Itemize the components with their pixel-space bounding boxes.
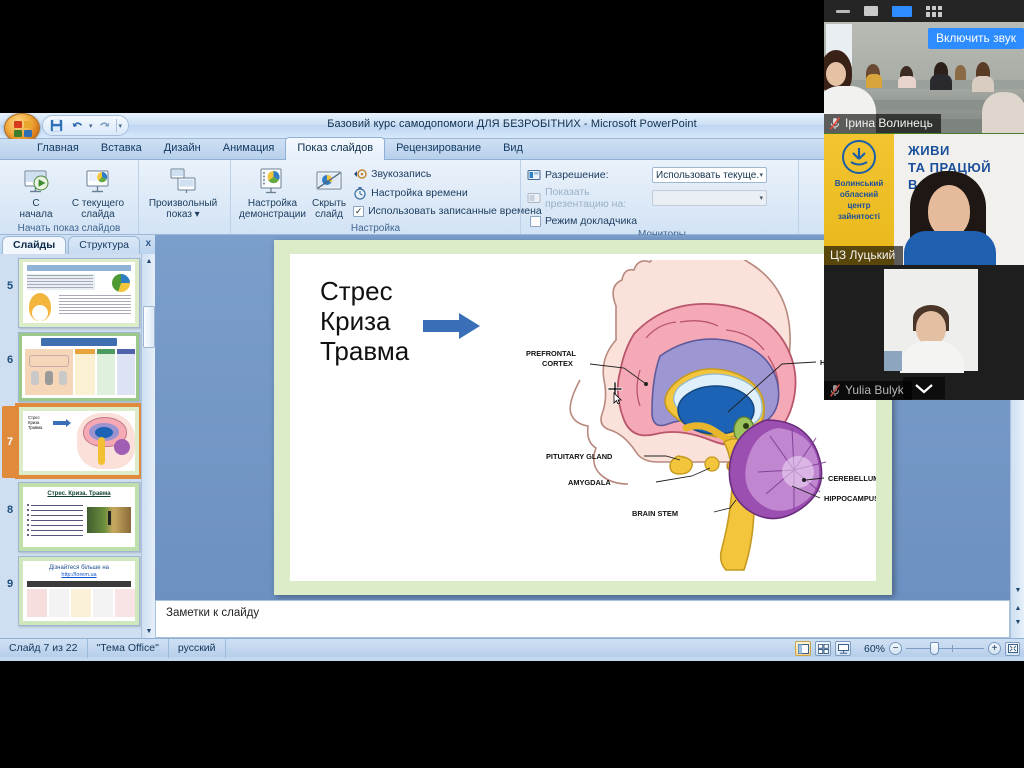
tab-review[interactable]: Рецензирование (385, 138, 492, 159)
participant-namebar-1: Ірина Волинець (824, 114, 941, 133)
tab-slideshow[interactable]: Показ слайдов (285, 137, 385, 160)
participant-namebar-3: Yulia Bulyk (824, 381, 912, 400)
setup-show-button[interactable]: Настройкадемонстрации (237, 163, 308, 223)
label-brain-stem: BRAIN STEM (632, 509, 678, 518)
cz-logo-icon (842, 140, 876, 174)
resolution-label: Разрешение: (545, 169, 609, 181)
student-2-body (898, 76, 916, 88)
slide-thumbnail-panel: Слайды Структура x 5 (0, 235, 155, 638)
slide-title-line-2: Криза (320, 306, 409, 336)
setup-show-icon (257, 166, 287, 196)
tab-design[interactable]: Дизайн (153, 138, 212, 159)
tab-slides[interactable]: Слайды (2, 236, 66, 254)
custom-show-button[interactable]: Произвольныйпоказ ▾ (145, 163, 221, 223)
thumbnail-8[interactable]: Стрес. Криза. Травма (18, 482, 140, 552)
slide-sorter-button[interactable] (815, 641, 831, 656)
thumbnail-scrollbar[interactable]: ▲ ▼ (141, 254, 155, 638)
cz-org-name: Волинський обласний центр зайнятості (824, 178, 894, 222)
thumbnail-number-7: 7 (2, 406, 18, 478)
cz-org-line-2: обласний (824, 189, 894, 200)
yulia-chair (884, 351, 902, 371)
hide-slide-label: Скрытьслайд (312, 198, 346, 220)
chevron-down-icon-expand[interactable] (903, 377, 945, 399)
normal-view-button[interactable] (795, 641, 811, 656)
status-bar-right: 60% − + (795, 639, 1020, 658)
participant-namebar-2: ЦЗ Луцький (824, 246, 903, 265)
from-current-slide-button[interactable]: С текущегослайда (68, 163, 128, 223)
slide-show-view-button[interactable] (835, 641, 851, 656)
thumbnail-row-6[interactable]: 6 (0, 328, 155, 402)
thumbnail-number-5: 5 (2, 258, 18, 292)
yulia-webcam-frame (884, 269, 978, 371)
student-3-body (930, 74, 952, 90)
video-tile-cz-lutsk[interactable]: ЖИВИ ТА ПРАЦЮЙ В УКРАЇНІ Волинський обла… (824, 133, 1024, 265)
tab-outline[interactable]: Структура (68, 236, 140, 254)
thumbnail-5[interactable] (18, 258, 140, 328)
brain-diagram: PREFRONTAL CORTEX HYPOTH PITUITARY GLAND… (520, 260, 876, 580)
zoom-level-label: 60% (855, 643, 885, 655)
zoom-window-controls (824, 0, 1024, 22)
status-bar: Слайд 7 из 22 "Тема Office" русский 60% … (0, 638, 1024, 657)
label-prefrontal-cortex-2: CORTEX (542, 359, 573, 368)
from-current-slide-label: С текущегослайда (72, 198, 124, 220)
ribbon-group-monitors: Разрешение: Использовать текуще... ▾ (520, 160, 798, 234)
custom-show-icon (168, 166, 198, 196)
mic-muted-icon-3 (830, 384, 840, 397)
label-pituitary-gland: PITUITARY GLAND (546, 452, 613, 461)
use-rehearsed-timings-item[interactable]: ✓ Использовать записанные времена (350, 203, 545, 219)
chevron-down-icon: ▾ (759, 171, 763, 179)
right-person-body (982, 92, 1024, 133)
thumbnail-number-6: 6 (2, 332, 18, 366)
resolution-row: Разрешение: Использовать текуще... ▾ (527, 167, 767, 183)
use-rehearsed-timings-label: Использовать записанные времена (368, 205, 542, 217)
from-beginning-label: Сначала (19, 198, 52, 220)
slide-counter: Слайд 7 из 22 (0, 639, 88, 658)
video-tile-yulia[interactable]: Yulia Bulyk (824, 265, 1024, 400)
show-presentation-on-combobox: ▾ (652, 190, 767, 206)
custom-show-label: Произвольныйпоказ ▾ (149, 198, 217, 220)
cz-person-body (904, 231, 996, 265)
presenter-view-item[interactable]: Режим докладчика (527, 213, 767, 229)
resolution-label-wrap: Разрешение: (527, 168, 647, 182)
ribbon-group-start-show: Сначала (0, 160, 138, 234)
presenter-view-checkbox[interactable] (530, 216, 541, 227)
cz-slogan-line-1: ЖИВИ (908, 142, 1018, 159)
share-screen-icon[interactable] (892, 6, 912, 17)
tab-insert[interactable]: Вставка (90, 138, 153, 159)
maximize-icon[interactable] (864, 6, 878, 16)
student-5-body (972, 76, 994, 92)
thumbnail-7[interactable]: СтресКризаТравма (18, 406, 140, 476)
screen-root: ▾ ▾ Базовий курс самодопомоги ДЛЯ БЕЗРОБ… (0, 0, 1024, 768)
thumbnail-6[interactable] (18, 332, 140, 402)
setup-options-list: Звукозапись Настройка времени ✓ Использо… (350, 163, 545, 219)
thumbnail-number-9: 9 (2, 556, 18, 590)
rehearse-timings-item[interactable]: Настройка времени (350, 184, 545, 202)
presenter-view-label: Режим докладчика (545, 215, 637, 227)
zoom-slider-track (906, 648, 984, 649)
close-panel-icon[interactable]: x (145, 238, 151, 249)
hide-slide-icon (314, 166, 344, 196)
record-narration-icon (353, 167, 367, 181)
zoom-meeting-panel: Включить звук Ірина Волинець ЖИВИ ТА ПРА… (824, 0, 1024, 400)
label-prefrontal-cortex: PREFRONTAL (526, 349, 576, 358)
label-amygdala: AMYGDALA (568, 478, 611, 487)
scroll-down-small-icon[interactable]: ▼ (1012, 584, 1024, 596)
notes-pane[interactable]: Заметки к слайду (155, 600, 1010, 638)
thumbnail-row-9[interactable]: 9 Дізнайтеся більше на http://lorem.ua (0, 552, 155, 626)
cz-person-face (928, 185, 970, 237)
student-1-body (866, 74, 882, 88)
fit-to-window-button[interactable] (1005, 642, 1020, 656)
resolution-value: Использовать текуще... (656, 170, 759, 181)
next-slide-icon[interactable]: ▼ (1012, 616, 1024, 628)
label-cerebellum: CEREBELLUM (828, 474, 876, 483)
theme-name[interactable]: "Тема Office" (88, 639, 169, 658)
rehearse-timings-icon (353, 186, 367, 200)
participant-name-2: ЦЗ Луцький (830, 248, 895, 262)
use-rehearsed-timings-checkbox[interactable]: ✓ (353, 206, 364, 217)
setup-show-label: Настройкадемонстрации (239, 198, 306, 220)
mic-muted-icon (830, 117, 840, 130)
tab-view[interactable]: Вид (492, 138, 534, 159)
previous-slide-icon[interactable]: ▲ (1012, 602, 1024, 614)
thumbnail-row-8[interactable]: 8 Стрес. Криза. Травма (0, 478, 155, 552)
participant-name-1: Ірина Волинець (845, 116, 933, 130)
thumbnail-9[interactable]: Дізнайтеся більше на http://lorem.ua (18, 556, 140, 626)
ribbon-group-custom-show-label (145, 223, 224, 234)
record-narration-label: Звукозапись (371, 168, 431, 180)
current-slide[interactable]: Стрес Криза Травма (274, 240, 892, 595)
zoom-slider[interactable] (906, 642, 984, 655)
show-presentation-on-label-wrap: Показать презентацию на: (527, 186, 647, 210)
thumbnail-list[interactable]: 5 (0, 254, 155, 638)
slide-title-line-3: Травма (320, 336, 409, 366)
label-hippocampus: HIPPOCAMPUS (824, 494, 876, 503)
show-presentation-on-row: Показать презентацию на: ▾ (527, 186, 767, 210)
blue-arrow-shape[interactable] (423, 312, 481, 340)
notes-placeholder: Заметки к слайду (166, 607, 999, 619)
show-presentation-on-label: Показать презентацию на: (545, 186, 647, 210)
chevron-down-disabled-icon: ▾ (759, 194, 763, 202)
student-4 (955, 65, 966, 80)
zoom-out-button[interactable]: − (889, 642, 902, 655)
rehearse-timings-label: Настройка времени (371, 187, 468, 199)
from-beginning-button[interactable]: Сначала (6, 163, 66, 223)
yulia-face (916, 311, 946, 345)
unmute-button[interactable]: Включить звук (928, 28, 1024, 49)
hide-slide-button[interactable]: Скрытьслайд (310, 163, 348, 223)
language-indicator[interactable]: русский (169, 639, 226, 658)
scroll-up-icon[interactable]: ▲ (143, 255, 155, 267)
resolution-combobox[interactable]: Использовать текуще... ▾ (652, 167, 767, 183)
zoom-slider-knob[interactable] (930, 642, 939, 655)
participant-name-3: Yulia Bulyk (845, 383, 904, 397)
record-narration-item[interactable]: Звукозапись (350, 165, 545, 183)
resolution-icon (527, 168, 541, 182)
thumbnail-number-8: 8 (2, 482, 18, 516)
thumbnail-row-5[interactable]: 5 (0, 254, 155, 328)
tab-home[interactable]: Главная (26, 138, 90, 159)
monitor-icon (527, 191, 541, 205)
foreground-person-face (826, 62, 846, 86)
scroll-down-icon[interactable]: ▼ (143, 625, 155, 637)
cz-org-line-3: центр (824, 200, 894, 211)
cz-org-line-1: Волинський (824, 178, 894, 189)
cz-org-line-4: зайнятості (824, 211, 894, 222)
gallery-view-icon[interactable] (926, 6, 942, 17)
slide-canvas[interactable]: Стрес Криза Травма (290, 254, 876, 581)
slide-panel-tabs: Слайды Структура x (0, 235, 155, 254)
from-current-slide-icon (83, 166, 113, 196)
monitors-options-list: Разрешение: Использовать текуще... ▾ (527, 163, 767, 229)
zoom-slider-tick (952, 645, 953, 652)
thumbnail-row-7[interactable]: 7 СтресКризаТравма (0, 402, 155, 478)
thumbnail-8-title: Стрес. Криза. Травма (19, 491, 139, 497)
ribbon-group-custom-show: Произвольныйпоказ ▾ (138, 160, 230, 234)
zoom-in-button[interactable]: + (988, 642, 1001, 655)
tab-animation[interactable]: Анимация (212, 138, 286, 159)
slide-title-line-1: Стрес (320, 276, 409, 306)
from-beginning-icon (21, 166, 51, 196)
minimize-icon[interactable] (836, 10, 850, 13)
video-tile-irina[interactable]: Включить звук Ірина Волинець (824, 22, 1024, 133)
ribbon-group-setup: Настройкадемонстрации Скр (230, 160, 520, 234)
slide-title-text[interactable]: Стрес Криза Травма (320, 276, 409, 366)
thumbnail-scroll-thumb[interactable] (143, 306, 155, 348)
